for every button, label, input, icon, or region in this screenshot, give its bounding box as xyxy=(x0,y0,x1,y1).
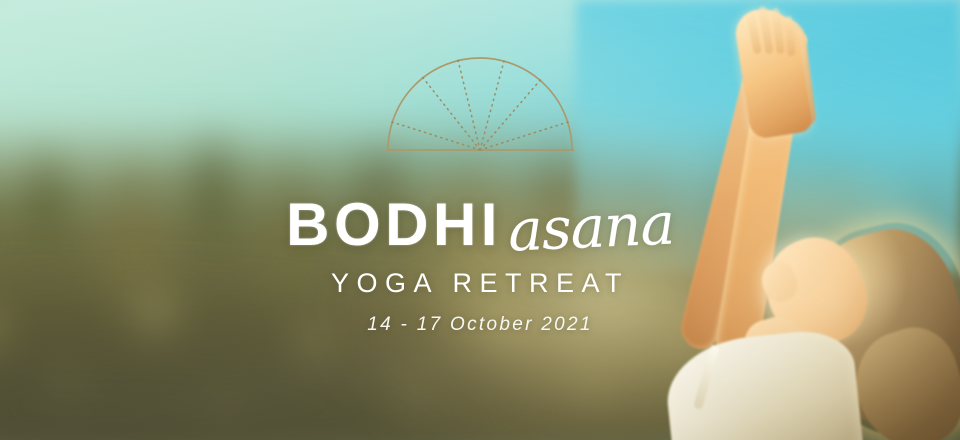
sun-ray xyxy=(392,122,480,150)
sun-ray xyxy=(480,78,542,150)
yoga-retreat-banner: BODHI asana YOGA RETREAT 14 - 17 October… xyxy=(0,0,960,440)
sun-ray xyxy=(480,122,568,150)
title-row: BODHI asana xyxy=(0,196,960,254)
event-dateline: 14 - 17 October 2021 xyxy=(0,314,960,336)
event-subtitle: YOGA RETREAT xyxy=(0,268,960,299)
wordmark-block: BODHI asana YOGA RETREAT 14 - 17 October… xyxy=(0,196,960,336)
half-sun-semicircle-emblem xyxy=(382,52,578,156)
brand-name-script: asana xyxy=(507,194,675,259)
sun-rays xyxy=(392,60,568,150)
brand-name-primary: BODHI xyxy=(286,196,502,254)
sun-ray xyxy=(420,74,480,150)
semicircle-arc xyxy=(388,58,572,150)
